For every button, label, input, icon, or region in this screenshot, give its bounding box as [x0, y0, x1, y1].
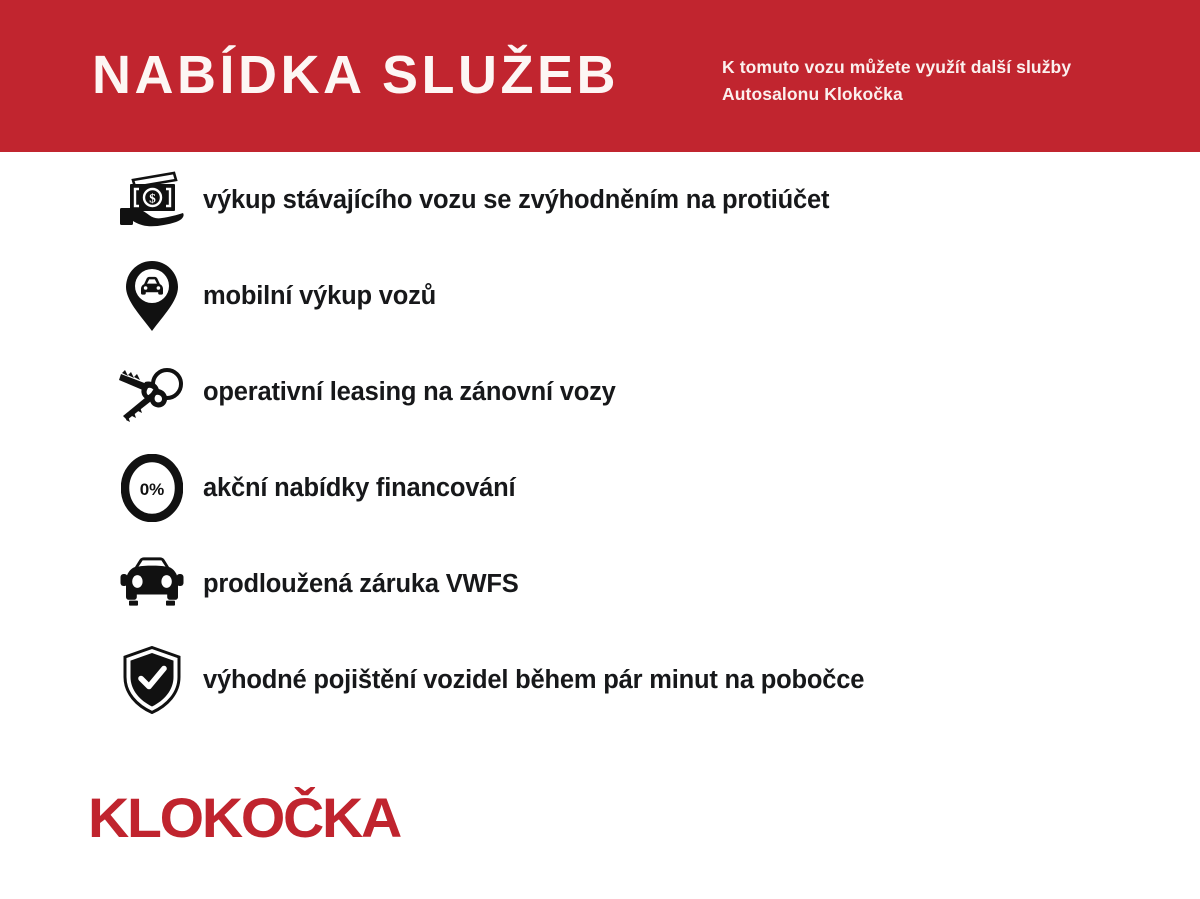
map-pin-car-icon — [115, 259, 189, 333]
list-item: operativní leasing na zánovní vozy — [0, 344, 1200, 440]
services-list: $ výkup stávajícího vozu se zvýhodněním … — [0, 152, 1200, 728]
header-subtitle: K tomuto vozu můžete využít další služby… — [722, 54, 1142, 108]
page-title: NABÍDKA SLUŽEB — [92, 45, 619, 105]
list-item-label: výhodné pojištění vozidel během pár minu… — [203, 666, 864, 695]
list-item: $ výkup stávajícího vozu se zvýhodněním … — [0, 152, 1200, 248]
list-item-label: akční nabídky financování — [203, 474, 515, 503]
zero-percent-circle-icon: 0% — [115, 451, 189, 525]
klokocka-logo: KLOKOČKA — [88, 786, 394, 850]
list-item-label: mobilní výkup vozů — [203, 282, 436, 311]
list-item: výhodné pojištění vozidel během pár minu… — [0, 632, 1200, 728]
services-offer-slide: NABÍDKA SLUŽEB K tomuto vozu můžete využ… — [0, 0, 1200, 899]
list-item: mobilní výkup vozů — [0, 248, 1200, 344]
list-item: 0% akční nabídky financování — [0, 440, 1200, 536]
car-keys-icon — [115, 355, 189, 429]
car-front-icon — [115, 547, 189, 621]
header-band: NABÍDKA SLUŽEB K tomuto vozu můžete využ… — [0, 0, 1200, 152]
header-content: NABÍDKA SLUŽEB K tomuto vozu můžete využ… — [92, 0, 1200, 152]
svg-text:$: $ — [149, 191, 156, 206]
list-item-label: výkup stávajícího vozu se zvýhodněním na… — [203, 186, 829, 215]
shield-check-icon — [115, 643, 189, 717]
logo-text: KLOKOČKA — [88, 789, 400, 847]
list-item-label: operativní leasing na zánovní vozy — [203, 378, 616, 407]
list-item-label: prodloužená záruka VWFS — [203, 570, 519, 599]
zero-percent-label: 0% — [140, 480, 165, 499]
list-item: prodloužená záruka VWFS — [0, 536, 1200, 632]
money-in-hand-icon: $ — [115, 163, 189, 237]
